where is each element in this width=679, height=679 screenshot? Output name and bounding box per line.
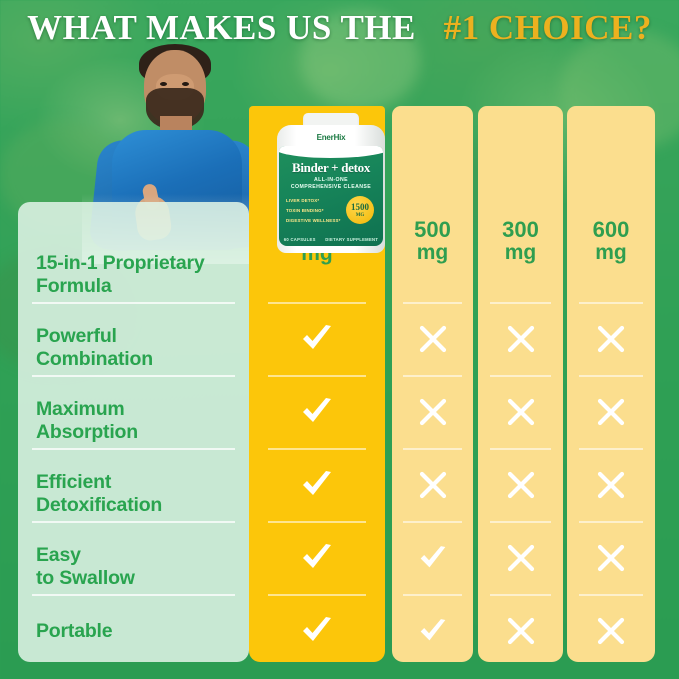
product-strength-badge: 1500 MG: [346, 196, 374, 224]
row-label-2-line2: Absorption: [36, 421, 246, 444]
cell-gummy-row4: [567, 528, 655, 588]
badge-amount: 1500: [346, 203, 374, 212]
row-label-3-line2: Detoxification: [36, 494, 246, 517]
cell-gummy-dose: 600 mg: [567, 206, 655, 276]
dose-unit: mg: [505, 242, 537, 263]
product-subtitle-2: COMPREHENSIVE CLEANSE: [279, 184, 383, 190]
check-icon: [418, 618, 448, 645]
dose-unit: mg: [417, 242, 449, 263]
product-benefit-2: TOXIN BINDING*: [286, 206, 344, 216]
column-liquid[interactable]: 300 mg: [478, 106, 563, 662]
feature-label-panel: 15-in-1 Proprietary Formula Powerful Com…: [18, 202, 249, 662]
cell-caps-row5: [392, 601, 473, 661]
check-icon: [300, 397, 334, 427]
cross-icon: [419, 325, 447, 353]
cross-icon: [507, 398, 535, 426]
cell-ours-row2: [249, 382, 385, 442]
check-icon: [300, 324, 334, 354]
product-benefit-3: DIGESTIVE WELLNESS*: [286, 216, 344, 226]
cross-icon: [507, 325, 535, 353]
cross-icon: [597, 398, 625, 426]
dose-value: 300: [502, 219, 539, 241]
row-label-5-line1: Portable: [36, 620, 246, 643]
check-icon: [300, 470, 334, 500]
product-benefits: LIVER DETOX* TOXIN BINDING* DIGESTIVE WE…: [286, 196, 344, 226]
product-count: 60 CAPSULES: [284, 237, 316, 242]
cross-icon: [597, 544, 625, 572]
cell-liquid-row5: [478, 601, 563, 661]
cell-caps-row4: [392, 528, 473, 588]
row-label-0: 15-in-1 Proprietary Formula: [36, 252, 246, 298]
row-label-2-line1: Maximum: [36, 398, 246, 421]
check-icon: [300, 543, 334, 573]
product-name: Binder + detox: [279, 160, 383, 176]
cross-icon: [597, 325, 625, 353]
cell-liquid-row2: [478, 382, 563, 442]
cell-caps-row3: [392, 455, 473, 515]
cell-liquid-dose: 300 mg: [478, 206, 563, 276]
row-label-0-line1: 15-in-1 Proprietary: [36, 252, 246, 275]
label-wave-decor: [279, 146, 383, 158]
column-other-capsules[interactable]: 500 mg: [392, 106, 473, 662]
dose-unit: mg: [595, 242, 627, 263]
cell-ours-row4: [249, 528, 385, 588]
check-icon: [418, 545, 448, 572]
cross-icon: [597, 471, 625, 499]
row-label-3-line1: Efficient: [36, 471, 246, 494]
product-label-footer: 60 CAPSULES DIETARY SUPPLEMENT: [279, 237, 383, 242]
cell-liquid-row1: [478, 309, 563, 369]
row-label-3: Efficient Detoxification: [36, 471, 246, 517]
dose-value: 500: [414, 219, 451, 241]
product-brand: EnerHix: [277, 133, 385, 142]
product-label: Binder + detox ALL-IN-ONE COMPREHENSIVE …: [279, 146, 383, 246]
product-subtitle-1: ALL-IN-ONE: [279, 177, 383, 183]
cross-icon: [507, 471, 535, 499]
title-gold-part: #1 CHOICE?: [444, 8, 652, 47]
cell-ours-row5: [249, 601, 385, 661]
row-label-1-line2: Combination: [36, 348, 246, 371]
cross-icon: [597, 617, 625, 645]
title-white-part: WHAT MAKES US THE: [27, 8, 416, 47]
cross-icon: [507, 617, 535, 645]
column-gummy[interactable]: 600 mg: [567, 106, 655, 662]
cell-ours-row3: [249, 455, 385, 515]
row-label-5: Portable: [36, 620, 246, 643]
row-label-1-line1: Powerful: [36, 325, 246, 348]
cell-gummy-row5: [567, 601, 655, 661]
cross-icon: [419, 471, 447, 499]
row-label-0-line2: Formula: [36, 275, 246, 298]
row-label-1: Powerful Combination: [36, 325, 246, 371]
badge-unit: MG: [346, 213, 374, 218]
page-title: WHAT MAKES US THE #1 CHOICE?: [0, 8, 679, 48]
cell-liquid-row3: [478, 455, 563, 515]
product-bottle: EnerHix Binder + detox ALL-IN-ONE COMPRE…: [277, 113, 385, 253]
cell-gummy-row3: [567, 455, 655, 515]
row-label-2: Maximum Absorption: [36, 398, 246, 444]
cell-caps-row1: [392, 309, 473, 369]
cell-gummy-row2: [567, 382, 655, 442]
product-benefit-1: LIVER DETOX*: [286, 196, 344, 206]
cell-gummy-row1: [567, 309, 655, 369]
product-supplement-tag: DIETARY SUPPLEMENT: [325, 237, 378, 242]
row-label-4: Easy to Swallow: [36, 544, 246, 590]
dose-value: 600: [593, 219, 630, 241]
row-label-4-line1: Easy: [36, 544, 246, 567]
check-icon: [300, 616, 334, 646]
cell-ours-row1: [249, 309, 385, 369]
comparison-table: 15-in-1 Proprietary Formula Powerful Com…: [18, 202, 661, 662]
cross-icon: [507, 544, 535, 572]
row-label-4-line2: to Swallow: [36, 567, 246, 590]
cell-caps-row2: [392, 382, 473, 442]
cell-caps-dose: 500 mg: [392, 206, 473, 276]
cross-icon: [419, 398, 447, 426]
cell-liquid-row4: [478, 528, 563, 588]
